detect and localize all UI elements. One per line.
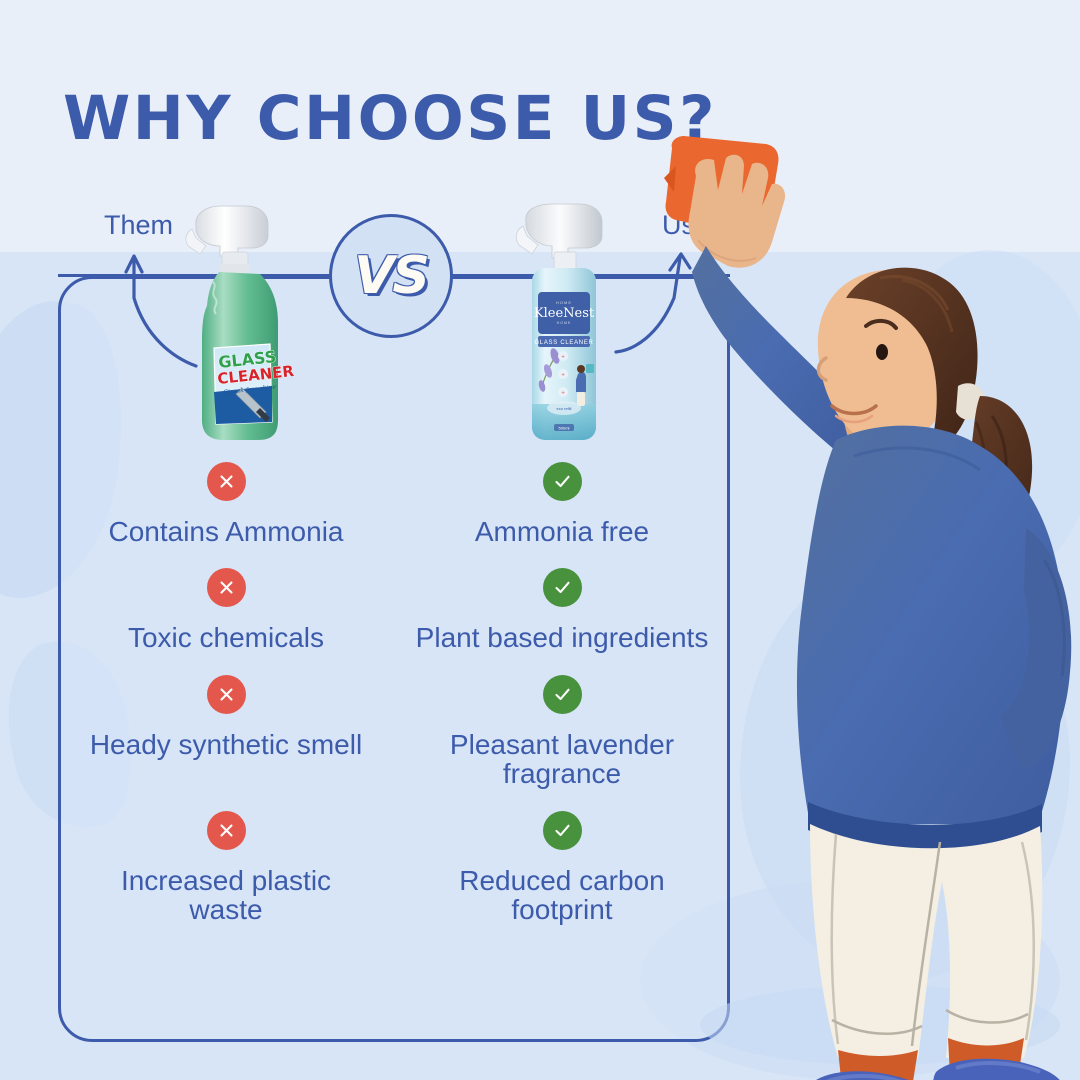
comparison-rows: Contains Ammonia Ammonia free Toxic chem… — [58, 462, 730, 946]
them-cell: Toxic chemicals — [58, 568, 394, 652]
check-icon — [543, 811, 582, 850]
svg-text:HOME: HOME — [556, 300, 572, 305]
cross-icon — [207, 675, 246, 714]
check-icon — [543, 675, 582, 714]
table-row: Contains Ammonia Ammonia free — [58, 462, 730, 546]
cross-icon — [207, 568, 246, 607]
check-icon — [543, 568, 582, 607]
vs-badge: VS — [329, 214, 453, 338]
competitor-bottle-image: GLASS CLEANER Streak free shine — [172, 196, 298, 446]
us-feature-text: Ammonia free — [475, 517, 649, 546]
them-cell: Contains Ammonia — [58, 462, 394, 546]
woman-cleaning-illustration — [640, 120, 1080, 1080]
svg-text:HOME: HOME — [557, 321, 572, 325]
table-row: Heady synthetic smell Pleasant lavender … — [58, 675, 730, 789]
them-feature-text: Contains Ammonia — [108, 517, 343, 546]
table-row: Increased plastic waste Reduced carbon f… — [58, 811, 730, 925]
cross-icon — [207, 462, 246, 501]
table-row: Toxic chemicals Plant based ingredients — [58, 568, 730, 652]
us-feature-text: Reduced carbon footprint — [455, 866, 670, 925]
them-label: Them — [104, 210, 173, 241]
check-icon — [543, 462, 582, 501]
svg-text:GLASS CLEANER: GLASS CLEANER — [534, 340, 593, 346]
svg-text:500ml: 500ml — [559, 426, 570, 431]
them-feature-text: Toxic chemicals — [128, 623, 324, 652]
vs-label: VS — [354, 246, 428, 306]
them-feature-text: Heady synthetic smell — [90, 730, 362, 759]
them-feature-text: Increased plastic waste — [119, 866, 334, 925]
cross-icon — [207, 811, 246, 850]
them-cell: Increased plastic waste — [58, 811, 394, 925]
them-cell: Heady synthetic smell — [58, 675, 394, 789]
svg-text:eco refill: eco refill — [557, 406, 572, 411]
poster-canvas: WHY CHOOSE US? Them Us VS — [0, 0, 1080, 1080]
svg-text:KleeNest: KleeNest — [534, 306, 595, 321]
kleenest-bottle-image: HOME KleeNest HOME GLASS CLEANER ✛ ✛ ✛ e… — [508, 196, 620, 446]
